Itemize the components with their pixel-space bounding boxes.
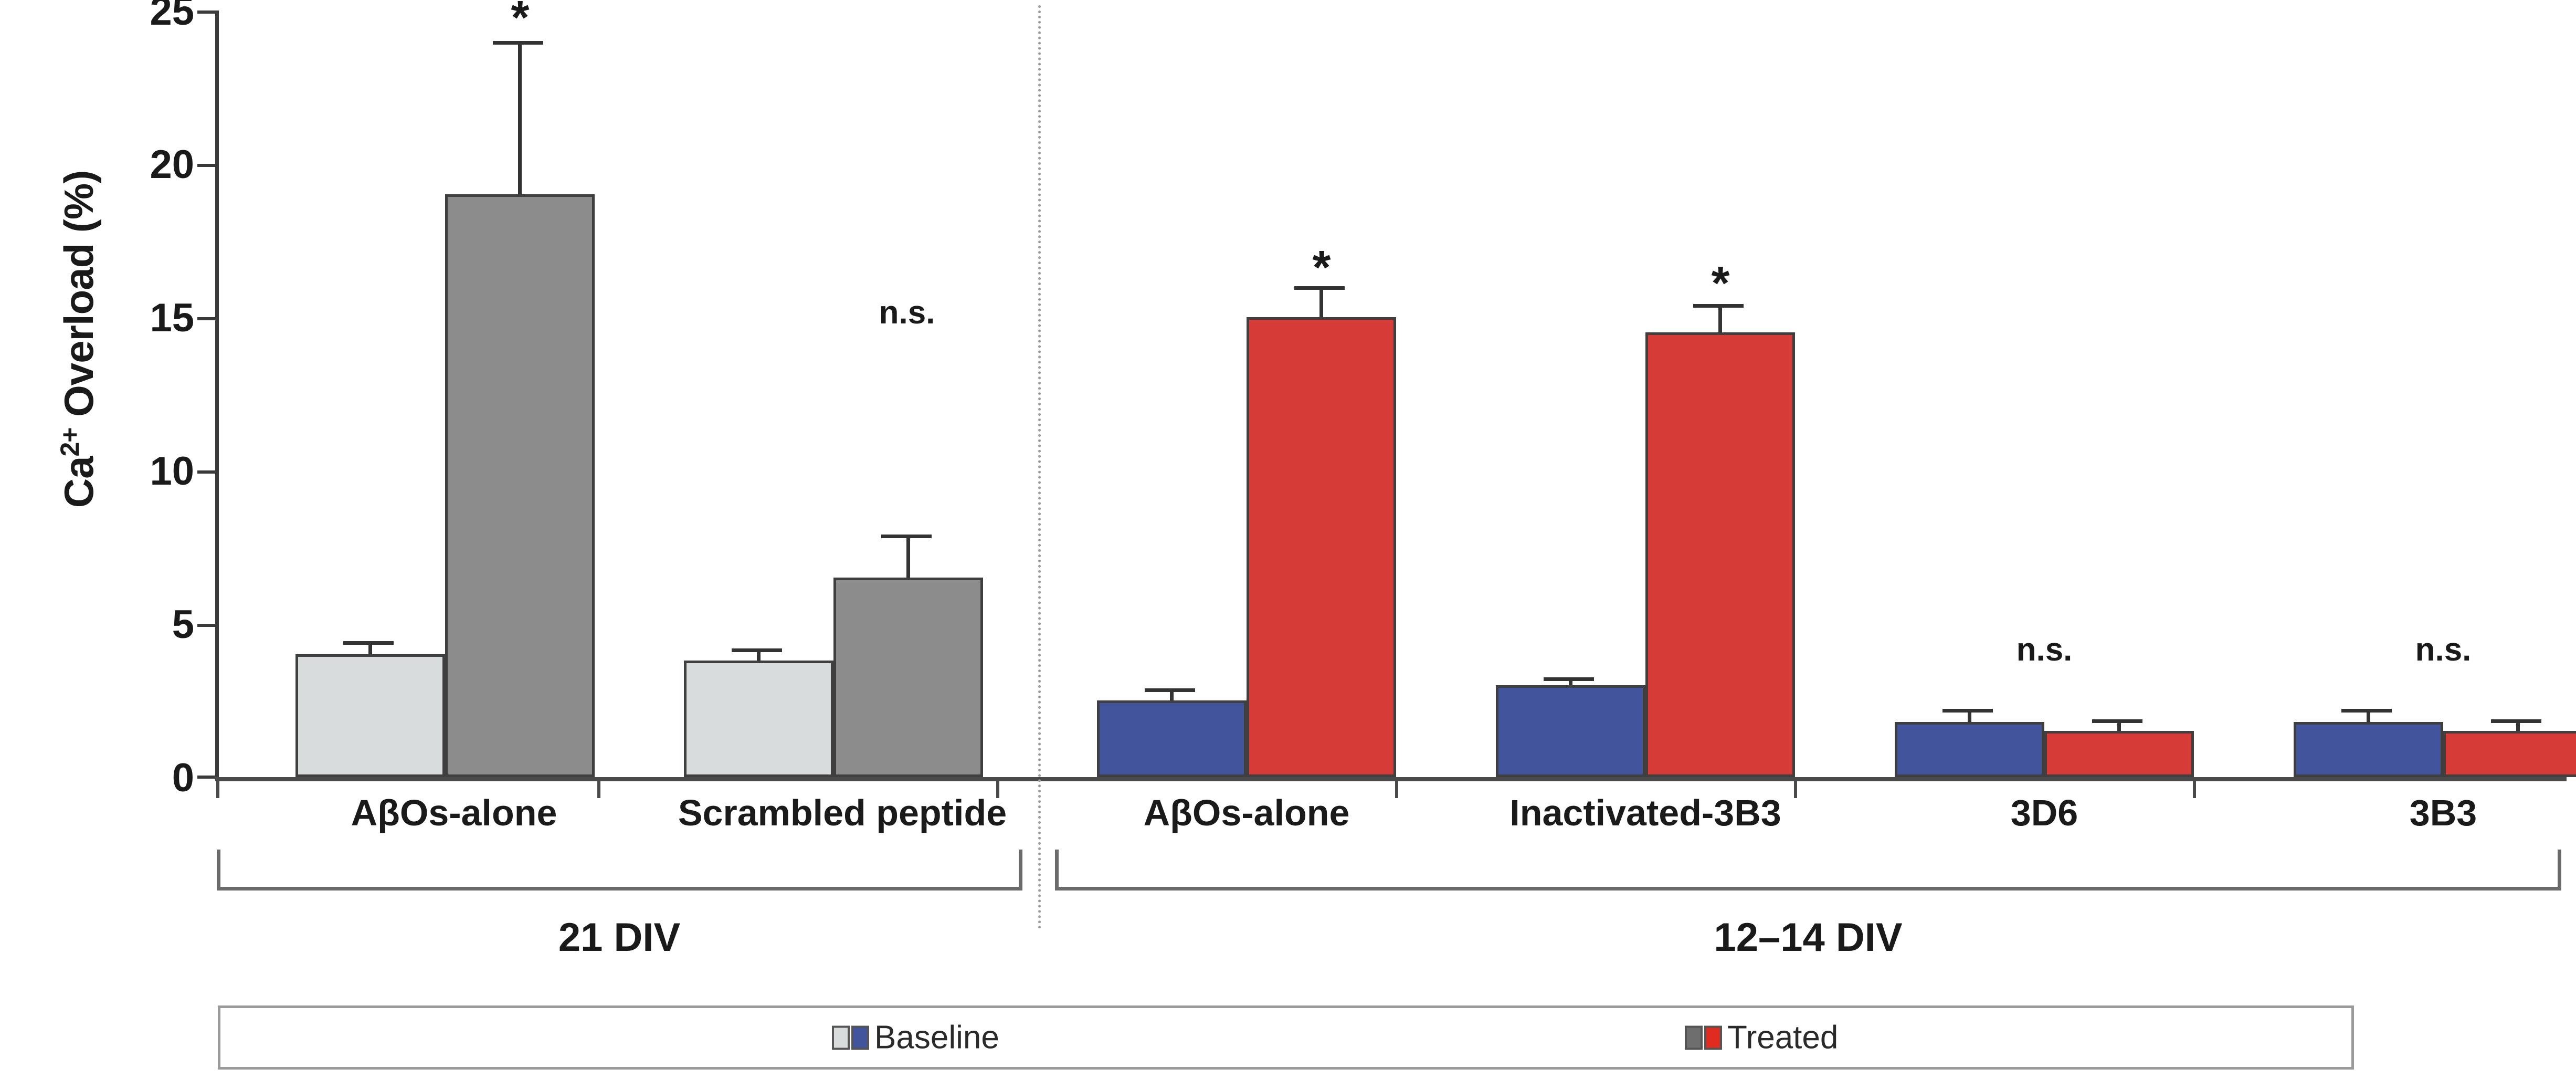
y-tick-15 (197, 317, 215, 320)
significance-group1: n.s. (854, 294, 959, 331)
legend: Baseline Treated (218, 1005, 2354, 1070)
legend-item-treated[interactable]: Treated (1685, 1019, 1838, 1056)
errorbar-group4-treated-line (2117, 721, 2121, 731)
x-label-group3: Inactivated-3B3 (1441, 792, 1850, 834)
errorbar-group5-baseline-cap (2341, 709, 2392, 713)
significance-group2: * (1269, 257, 1374, 278)
figure-root: Ca2+ Overload (%) 25 20 15 10 5 0 * n.s (0, 0, 2576, 1079)
y-tick-5 (197, 624, 215, 627)
errorbar-group4-baseline-cap (1942, 709, 1993, 713)
legend-item-baseline[interactable]: Baseline (832, 1019, 999, 1056)
group-label-1214div: 12–14 DIV (1598, 915, 2018, 960)
y-axis-line (215, 11, 219, 777)
bar-group2-treated (1247, 317, 1396, 777)
legend-swatch-treated-gray (1685, 1025, 1703, 1050)
y-tick-label-10: 10 (58, 448, 194, 494)
x-label-group5: 3B3 (2239, 792, 2576, 834)
bar-group4-baseline (1895, 722, 2044, 777)
y-tick-label-20: 20 (58, 142, 194, 187)
y-tick-0 (197, 776, 215, 779)
plot-area: * n.s. * * n.s. (215, 11, 2567, 777)
legend-label-baseline: Baseline (874, 1019, 999, 1056)
errorbar-group1-treated-line (906, 535, 910, 578)
legend-label-treated: Treated (1727, 1019, 1838, 1056)
group-bracket-21div (217, 850, 1022, 891)
significance-group0: * (468, 7, 573, 28)
errorbar-group0-treated-line (518, 41, 522, 194)
x-label-group2: AβOs-alone (1042, 792, 1451, 834)
errorbar-group1-treated-cap (881, 535, 932, 538)
x-label-group1: Scrambled peptide (638, 792, 1047, 834)
y-tick-label-15: 15 (58, 295, 194, 341)
bar-group0-treated (445, 194, 595, 777)
x-label-group0: AβOs-alone (249, 792, 659, 834)
errorbar-group1-baseline-line (757, 651, 761, 661)
bar-group3-treated (1645, 332, 1795, 777)
errorbar-group4-baseline-line (1968, 711, 1971, 722)
y-tick-label-0: 0 (58, 755, 194, 801)
legend-swatch-baseline-gray (832, 1025, 850, 1050)
errorbar-group5-treated-cap (2491, 719, 2541, 723)
legend-swatch-baseline-blue (851, 1025, 869, 1050)
bar-group3-baseline (1496, 685, 1645, 777)
group-label-21div: 21 DIV (409, 915, 829, 960)
errorbar-group0-baseline-line (368, 644, 372, 654)
significance-group4: n.s. (1992, 631, 2097, 668)
panel-divider (1038, 5, 1041, 929)
group-bracket-1214div (1055, 850, 2561, 891)
y-tick-20 (197, 164, 215, 167)
x-label-group4: 3D6 (1840, 792, 2249, 834)
y-tick-25 (197, 11, 215, 14)
errorbar-group2-baseline-line (1170, 691, 1174, 700)
bar-group5-treated (2443, 731, 2576, 777)
errorbar-group5-baseline-line (2367, 711, 2370, 722)
bar-group1-baseline (684, 661, 833, 777)
y-tick-10 (197, 470, 215, 474)
x-axis-line (215, 777, 2567, 781)
bar-group2-baseline (1097, 700, 1247, 777)
errorbar-group1-baseline-cap (732, 648, 782, 652)
bar-group1-treated (833, 578, 983, 777)
errorbar-group5-treated-line (2516, 721, 2520, 731)
bar-group4-treated (2044, 731, 2194, 777)
significance-group5: n.s. (2391, 631, 2496, 668)
significance-group3: * (1668, 273, 1773, 294)
x-tick-0 (216, 781, 219, 798)
bar-group5-baseline (2294, 722, 2443, 777)
errorbar-group0-baseline-cap (343, 641, 394, 645)
y-tick-label-5: 5 (58, 602, 194, 647)
errorbar-group4-treated-cap (2092, 719, 2142, 723)
legend-swatch-treated-red (1704, 1025, 1722, 1050)
errorbar-group3-baseline-cap (1544, 677, 1594, 681)
errorbar-group2-baseline-cap (1145, 688, 1195, 692)
y-tick-label-25: 25 (58, 0, 194, 34)
bar-group0-baseline (295, 654, 445, 777)
